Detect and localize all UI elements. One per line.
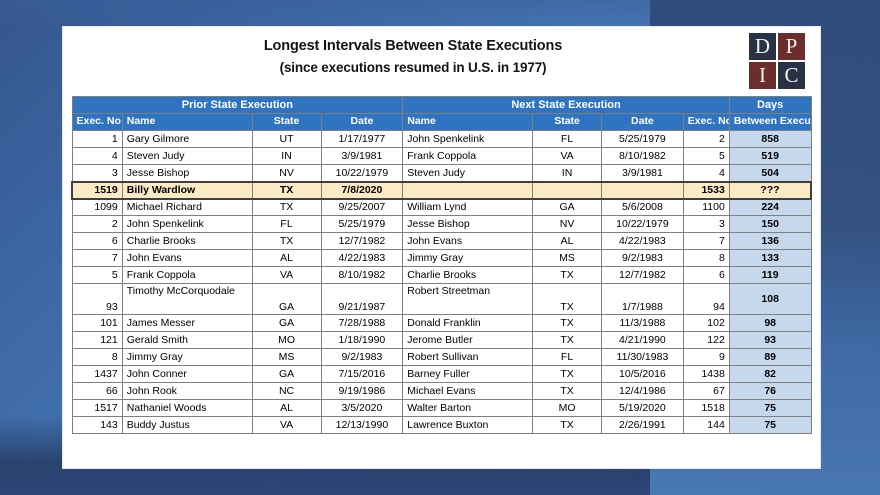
- cell-prior-exec-no: 3: [72, 165, 122, 182]
- cell-prior-name: Jesse Bishop: [122, 165, 252, 182]
- cell-next-date: 11/3/1988: [602, 315, 684, 332]
- cell-next-date: 5/6/2008: [602, 199, 684, 216]
- cell-prior-date: 9/2/1983: [321, 349, 403, 366]
- presentation-slide: Longest Intervals Between State Executio…: [0, 0, 880, 495]
- cell-prior-name: John Rook: [122, 383, 252, 400]
- cell-next-state: TX: [533, 417, 602, 434]
- cell-next-date: 12/7/1982: [602, 267, 684, 284]
- cell-prior-exec-no: 66: [72, 383, 122, 400]
- cell-prior-state: TX: [252, 233, 321, 250]
- table-row: 93Timothy McCorquodaleGA9/21/1987Robert …: [72, 284, 811, 315]
- cell-prior-state: GA: [252, 366, 321, 383]
- table-row: 1517Nathaniel WoodsAL3/5/2020Walter Bart…: [72, 400, 811, 417]
- table-row: 7John EvansAL4/22/1983Jimmy GrayMS9/2/19…: [72, 250, 811, 267]
- cell-prior-exec-no: 101: [72, 315, 122, 332]
- cell-days-between: 108: [729, 284, 811, 315]
- cell-next-state: VA: [533, 148, 602, 165]
- cell-prior-state: VA: [252, 417, 321, 434]
- cell-prior-state: UT: [252, 131, 321, 148]
- cell-prior-date: 7/28/1988: [321, 315, 403, 332]
- cell-prior-name: Michael Richard: [122, 199, 252, 216]
- cell-next-exec-no: 122: [683, 332, 729, 349]
- col-days-between: Between Executions: [729, 114, 811, 131]
- cell-prior-exec-no: 1517: [72, 400, 122, 417]
- cell-next-state: MO: [533, 400, 602, 417]
- cell-prior-state: TX: [252, 182, 321, 199]
- cell-next-name: [403, 182, 533, 199]
- group-header-days: Days: [729, 97, 811, 114]
- cell-next-exec-no: 9: [683, 349, 729, 366]
- column-header-row: Exec. No Name State Date Name State Date…: [72, 114, 811, 131]
- cell-next-exec-no: 2: [683, 131, 729, 148]
- cell-prior-name: Frank Coppola: [122, 267, 252, 284]
- logo-letter-d: D: [749, 33, 776, 60]
- table-row: 4Steven JudyIN3/9/1981Frank CoppolaVA8/1…: [72, 148, 811, 165]
- cell-next-date: 1/7/1988: [602, 284, 684, 315]
- cell-next-state: IN: [533, 165, 602, 182]
- cell-prior-name: Steven Judy: [122, 148, 252, 165]
- table-row: 66John RookNC9/19/1986Michael EvansTX12/…: [72, 383, 811, 400]
- cell-next-date: 5/25/1979: [602, 131, 684, 148]
- cell-prior-exec-no: 1519: [72, 182, 122, 199]
- cell-prior-name: Timothy McCorquodale: [122, 284, 252, 315]
- logo-letter-i: I: [749, 62, 776, 89]
- cell-next-state: TX: [533, 284, 602, 315]
- cell-days-between: 75: [729, 400, 811, 417]
- cell-days-between: 133: [729, 250, 811, 267]
- cell-days-between: 858: [729, 131, 811, 148]
- cell-prior-exec-no: 1437: [72, 366, 122, 383]
- cell-next-date: 4/21/1990: [602, 332, 684, 349]
- cell-prior-date: 9/21/1987: [321, 284, 403, 315]
- cell-next-exec-no: 102: [683, 315, 729, 332]
- cell-prior-date: 12/7/1982: [321, 233, 403, 250]
- cell-prior-name: Charlie Brooks: [122, 233, 252, 250]
- cell-prior-state: NC: [252, 383, 321, 400]
- col-next-date: Date: [602, 114, 684, 131]
- logo-letter-c: C: [778, 62, 805, 89]
- cell-next-name: John Spenkelink: [403, 131, 533, 148]
- cell-prior-state: MO: [252, 332, 321, 349]
- page-title: Longest Intervals Between State Executio…: [63, 35, 763, 57]
- cell-next-date: 11/30/1983: [602, 349, 684, 366]
- cell-prior-name: Gary Gilmore: [122, 131, 252, 148]
- table-row: 121Gerald SmithMO1/18/1990Jerome ButlerT…: [72, 332, 811, 349]
- cell-prior-name: Buddy Justus: [122, 417, 252, 434]
- cell-next-date: 3/9/1981: [602, 165, 684, 182]
- cell-prior-date: 4/22/1983: [321, 250, 403, 267]
- logo-letter-p: P: [778, 33, 805, 60]
- table-row: 143Buddy JustusVA12/13/1990Lawrence Buxt…: [72, 417, 811, 434]
- cell-next-name: John Evans: [403, 233, 533, 250]
- cell-next-name: Jerome Butler: [403, 332, 533, 349]
- table-row: 8Jimmy GrayMS9/2/1983Robert SullivanFL11…: [72, 349, 811, 366]
- group-header-next: Next State Execution: [403, 97, 730, 114]
- col-next-name: Name: [403, 114, 533, 131]
- cell-next-state: TX: [533, 366, 602, 383]
- group-header-prior: Prior State Execution: [72, 97, 403, 114]
- cell-next-name: Jimmy Gray: [403, 250, 533, 267]
- cell-next-name: Barney Fuller: [403, 366, 533, 383]
- cell-days-between: ???: [729, 182, 811, 199]
- cell-next-exec-no: 94: [683, 284, 729, 315]
- cell-prior-date: 1/18/1990: [321, 332, 403, 349]
- cell-prior-state: MS: [252, 349, 321, 366]
- cell-prior-date: 7/15/2016: [321, 366, 403, 383]
- cell-next-exec-no: 3: [683, 216, 729, 233]
- cell-next-exec-no: 1533: [683, 182, 729, 199]
- cell-next-name: Michael Evans: [403, 383, 533, 400]
- cell-prior-state: FL: [252, 216, 321, 233]
- cell-prior-state: AL: [252, 400, 321, 417]
- cell-days-between: 504: [729, 165, 811, 182]
- cell-prior-exec-no: 121: [72, 332, 122, 349]
- cell-prior-name: Gerald Smith: [122, 332, 252, 349]
- cell-next-state: GA: [533, 199, 602, 216]
- cell-prior-date: 5/25/1979: [321, 216, 403, 233]
- dpic-logo: D P I C: [748, 32, 806, 90]
- cell-next-name: Charlie Brooks: [403, 267, 533, 284]
- col-prior-state: State: [252, 114, 321, 131]
- cell-days-between: 224: [729, 199, 811, 216]
- table-body: 1Gary GilmoreUT1/17/1977John SpenkelinkF…: [72, 131, 811, 434]
- cell-prior-name: Billy Wardlow: [122, 182, 252, 199]
- cell-next-name: Robert Streetman: [403, 284, 533, 315]
- table-row: 6Charlie BrooksTX12/7/1982John EvansAL4/…: [72, 233, 811, 250]
- table-row: 1519Billy WardlowTX7/8/20201533???: [72, 182, 811, 199]
- cell-days-between: 519: [729, 148, 811, 165]
- cell-next-exec-no: 5: [683, 148, 729, 165]
- cell-next-date: 5/19/2020: [602, 400, 684, 417]
- cell-next-date: 2/26/1991: [602, 417, 684, 434]
- cell-next-name: Jesse Bishop: [403, 216, 533, 233]
- cell-prior-date: 7/8/2020: [321, 182, 403, 199]
- cell-prior-name: John Spenkelink: [122, 216, 252, 233]
- content-card: Longest Intervals Between State Executio…: [63, 27, 820, 468]
- cell-prior-date: 12/13/1990: [321, 417, 403, 434]
- cell-prior-date: 1/17/1977: [321, 131, 403, 148]
- cell-prior-exec-no: 2: [72, 216, 122, 233]
- cell-next-exec-no: 4: [683, 165, 729, 182]
- cell-prior-date: 10/22/1979: [321, 165, 403, 182]
- cell-prior-date: 3/5/2020: [321, 400, 403, 417]
- cell-next-date: 12/4/1986: [602, 383, 684, 400]
- cell-prior-name: James Messer: [122, 315, 252, 332]
- title-block: Longest Intervals Between State Executio…: [63, 35, 763, 79]
- cell-days-between: 89: [729, 349, 811, 366]
- table-row: 2John SpenkelinkFL5/25/1979Jesse BishopN…: [72, 216, 811, 233]
- cell-next-exec-no: 1438: [683, 366, 729, 383]
- cell-next-name: William Lynd: [403, 199, 533, 216]
- cell-next-state: FL: [533, 131, 602, 148]
- cell-next-date: 8/10/1982: [602, 148, 684, 165]
- cell-days-between: 82: [729, 366, 811, 383]
- cell-next-date: 4/22/1983: [602, 233, 684, 250]
- cell-next-state: FL: [533, 349, 602, 366]
- cell-next-exec-no: 7: [683, 233, 729, 250]
- cell-prior-name: John Evans: [122, 250, 252, 267]
- cell-next-state: TX: [533, 267, 602, 284]
- executions-table: Prior State Execution Next State Executi…: [71, 96, 812, 434]
- cell-days-between: 93: [729, 332, 811, 349]
- cell-prior-date: 8/10/1982: [321, 267, 403, 284]
- cell-next-exec-no: 1100: [683, 199, 729, 216]
- cell-next-name: Steven Judy: [403, 165, 533, 182]
- cell-next-state: AL: [533, 233, 602, 250]
- cell-days-between: 76: [729, 383, 811, 400]
- cell-prior-name: Jimmy Gray: [122, 349, 252, 366]
- cell-prior-state: GA: [252, 315, 321, 332]
- cell-prior-name: John Conner: [122, 366, 252, 383]
- cell-next-exec-no: 1518: [683, 400, 729, 417]
- table-row: 3Jesse BishopNV10/22/1979Steven JudyIN3/…: [72, 165, 811, 182]
- cell-next-exec-no: 67: [683, 383, 729, 400]
- cell-days-between: 150: [729, 216, 811, 233]
- cell-days-between: 136: [729, 233, 811, 250]
- cell-next-state: NV: [533, 216, 602, 233]
- cell-next-exec-no: 144: [683, 417, 729, 434]
- cell-next-exec-no: 8: [683, 250, 729, 267]
- group-header-row: Prior State Execution Next State Executi…: [72, 97, 811, 114]
- cell-next-name: Lawrence Buxton: [403, 417, 533, 434]
- table-row: 1437John ConnerGA7/15/2016Barney FullerT…: [72, 366, 811, 383]
- cell-next-exec-no: 6: [683, 267, 729, 284]
- cell-next-name: Walter Barton: [403, 400, 533, 417]
- cell-prior-state: IN: [252, 148, 321, 165]
- cell-prior-exec-no: 143: [72, 417, 122, 434]
- page-subtitle: (since executions resumed in U.S. in 197…: [63, 57, 763, 79]
- cell-next-name: Frank Coppola: [403, 148, 533, 165]
- cell-prior-exec-no: 4: [72, 148, 122, 165]
- cell-days-between: 75: [729, 417, 811, 434]
- col-next-state: State: [533, 114, 602, 131]
- table-row: 1099Michael RichardTX9/25/2007William Ly…: [72, 199, 811, 216]
- cell-prior-name: Nathaniel Woods: [122, 400, 252, 417]
- cell-next-name: Donald Franklin: [403, 315, 533, 332]
- cell-prior-state: NV: [252, 165, 321, 182]
- table-row: 5Frank CoppolaVA8/10/1982Charlie BrooksT…: [72, 267, 811, 284]
- cell-prior-date: 3/9/1981: [321, 148, 403, 165]
- col-prior-exec-no: Exec. No: [72, 114, 122, 131]
- cell-prior-state: GA: [252, 284, 321, 315]
- cell-next-date: 10/5/2016: [602, 366, 684, 383]
- cell-next-state: TX: [533, 383, 602, 400]
- cell-prior-date: 9/19/1986: [321, 383, 403, 400]
- cell-next-date: 10/22/1979: [602, 216, 684, 233]
- cell-days-between: 119: [729, 267, 811, 284]
- cell-next-state: [533, 182, 602, 199]
- cell-next-state: TX: [533, 332, 602, 349]
- col-prior-date: Date: [321, 114, 403, 131]
- cell-prior-date: 9/25/2007: [321, 199, 403, 216]
- cell-prior-exec-no: 7: [72, 250, 122, 267]
- table-row: 1Gary GilmoreUT1/17/1977John SpenkelinkF…: [72, 131, 811, 148]
- cell-prior-exec-no: 8: [72, 349, 122, 366]
- cell-next-state: MS: [533, 250, 602, 267]
- table-head: Prior State Execution Next State Executi…: [72, 97, 811, 131]
- cell-prior-exec-no: 1: [72, 131, 122, 148]
- cell-next-date: [602, 182, 684, 199]
- cell-days-between: 98: [729, 315, 811, 332]
- col-prior-name: Name: [122, 114, 252, 131]
- col-next-exec-no: Exec. No.: [683, 114, 729, 131]
- cell-prior-state: AL: [252, 250, 321, 267]
- cell-prior-exec-no: 5: [72, 267, 122, 284]
- table-row: 101James MesserGA7/28/1988Donald Frankli…: [72, 315, 811, 332]
- cell-prior-exec-no: 6: [72, 233, 122, 250]
- cell-prior-exec-no: 93: [72, 284, 122, 315]
- cell-prior-exec-no: 1099: [72, 199, 122, 216]
- cell-next-name: Robert Sullivan: [403, 349, 533, 366]
- cell-prior-state: VA: [252, 267, 321, 284]
- cell-next-state: TX: [533, 315, 602, 332]
- cell-next-date: 9/2/1983: [602, 250, 684, 267]
- cell-prior-state: TX: [252, 199, 321, 216]
